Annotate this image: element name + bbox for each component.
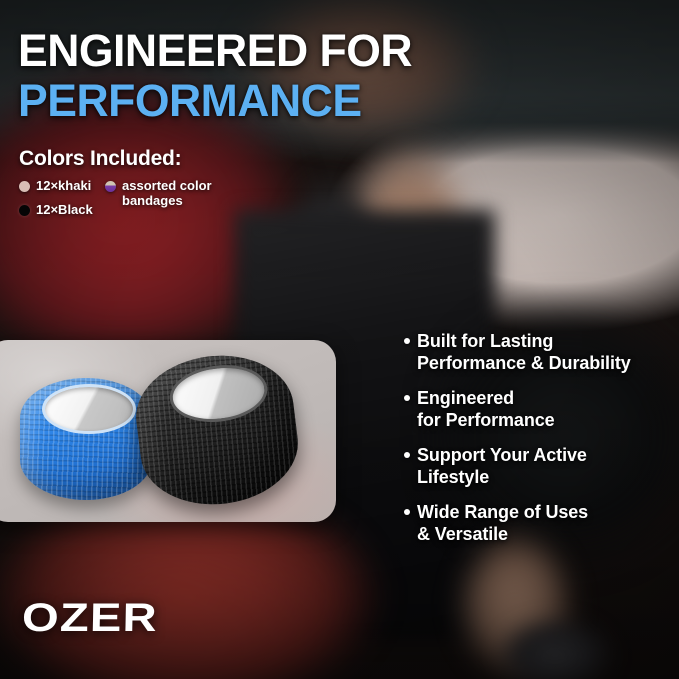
bullet-dot-icon: [404, 338, 410, 344]
feature-list: Built for Lasting Performance & Durabili…: [404, 330, 672, 545]
bullet-dot-icon: [404, 452, 410, 458]
headline: ENGINEERED FOR PERFORMANCE: [18, 26, 578, 126]
colors-included-section: Colors Included: 12×khaki 12×Black assor…: [19, 147, 239, 228]
feature-text: Support Your Active Lifestyle: [417, 444, 672, 488]
swatch-item-black: 12×Black: [19, 202, 93, 217]
brand-logo: OZER: [22, 596, 137, 641]
product-marketing-poster: ENGINEERED FOR PERFORMANCE Colors Includ…: [0, 0, 679, 679]
swatch-item-khaki: 12×khaki: [19, 178, 91, 193]
blue-roll-core-hole: [42, 384, 136, 434]
feature-item: Built for Lasting Performance & Durabili…: [404, 330, 672, 374]
black-tape-roll: [130, 347, 305, 513]
feature-text: Wide Range of Uses & Versatile: [417, 501, 672, 545]
assorted-swatch-dot: [105, 181, 116, 192]
headline-line-2: PERFORMANCE: [18, 76, 572, 126]
swatch-label-black: 12×Black: [36, 202, 93, 217]
khaki-swatch-dot: [19, 181, 30, 192]
feature-item: Support Your Active Lifestyle: [404, 444, 672, 488]
feature-text: Built for Lasting Performance & Durabili…: [417, 330, 672, 374]
swatch-list: 12×khaki 12×Black assorted color bandage…: [19, 178, 239, 228]
black-swatch-dot: [19, 205, 30, 216]
headline-line-1: ENGINEERED FOR: [18, 26, 572, 76]
swatch-label-assorted: assorted color bandages: [122, 178, 212, 208]
swatch-label-khaki: 12×khaki: [36, 178, 91, 193]
product-image-card: [0, 340, 336, 522]
bullet-dot-icon: [404, 509, 410, 515]
blue-tape-roll: [20, 378, 152, 500]
feature-item: Engineered for Performance: [404, 387, 672, 431]
swatch-item-assorted: assorted color bandages: [105, 178, 223, 208]
bullet-dot-icon: [404, 395, 410, 401]
colors-included-title: Colors Included:: [19, 147, 239, 171]
feature-text: Engineered for Performance: [417, 387, 672, 431]
feature-item: Wide Range of Uses & Versatile: [404, 501, 672, 545]
brand-logo-text: OZER: [22, 596, 159, 641]
